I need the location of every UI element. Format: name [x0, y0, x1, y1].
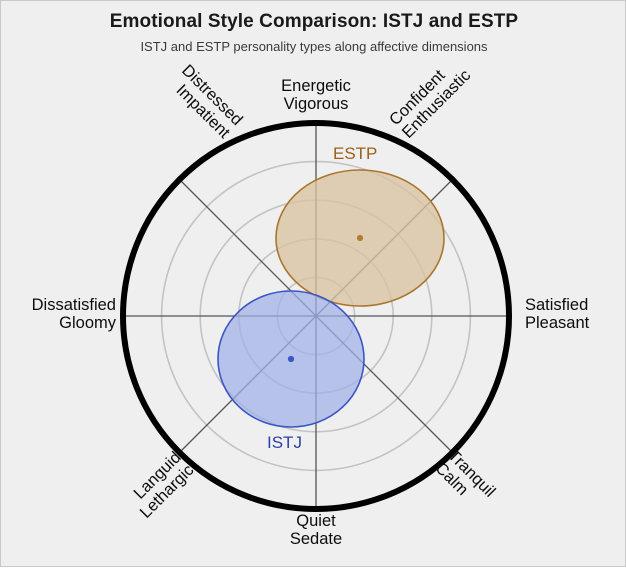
- chart-figure: Emotional Style Comparison: ISTJ and EST…: [0, 0, 626, 567]
- series-label-estp: ESTP: [333, 144, 377, 164]
- axis-label-right-line1: Satisfied: [525, 296, 626, 314]
- series-ellipse-istj: [218, 291, 364, 427]
- axis-label-left: Dissatisfied Gloomy: [11, 296, 116, 333]
- axis-label-left-line2: Gloomy: [11, 314, 116, 332]
- axis-label-bottom: Quiet Sedate: [236, 512, 396, 549]
- series-label-istj: ISTJ: [267, 433, 302, 453]
- axis-label-bottom-line1: Quiet: [236, 512, 396, 530]
- axis-label-right: Satisfied Pleasant: [525, 296, 626, 333]
- series-ellipse-estp: [276, 170, 444, 306]
- axis-label-left-line1: Dissatisfied: [11, 296, 116, 314]
- series-center-point-istj: [288, 356, 294, 362]
- axis-label-right-line2: Pleasant: [525, 314, 626, 332]
- axis-label-top-line2: Vigorous: [236, 95, 396, 113]
- axis-label-bottom-line2: Sedate: [236, 530, 396, 548]
- axis-label-top: Energetic Vigorous: [236, 77, 396, 114]
- axis-label-top-line1: Energetic: [236, 77, 396, 95]
- series-center-point-estp: [357, 235, 363, 241]
